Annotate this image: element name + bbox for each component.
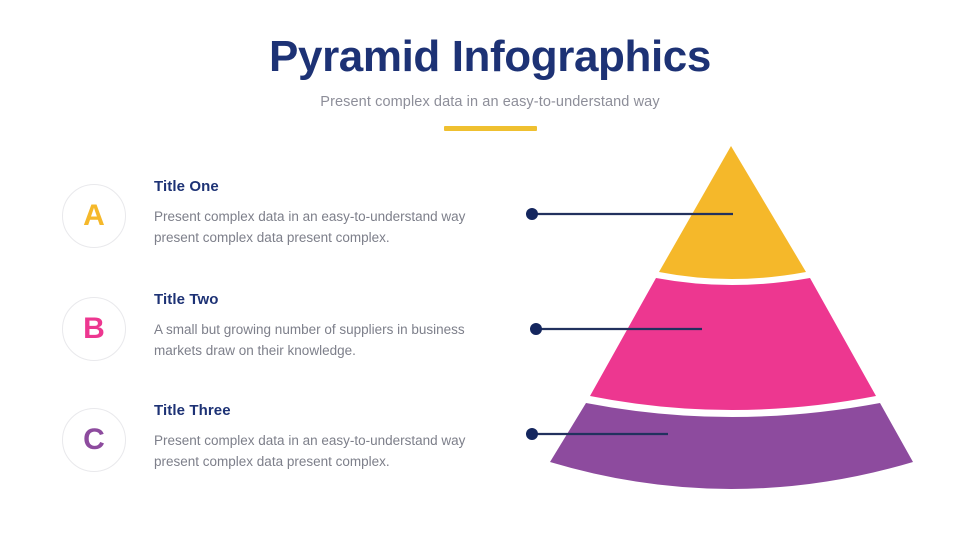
connector-line-two: [530, 323, 702, 335]
legend-title: Title Three: [154, 402, 514, 419]
avatar: A: [62, 184, 126, 248]
legend-body: Present complex data in an easy-to-under…: [154, 431, 494, 473]
badge-letter-b: B: [83, 314, 105, 344]
connector-line-one: [526, 208, 733, 220]
legend-body: A small but growing number of suppliers …: [154, 320, 494, 362]
avatar: C: [62, 408, 126, 472]
legend-title: Title One: [154, 178, 514, 195]
legend-text-block: Title Two A small but growing number of …: [154, 291, 514, 362]
pyramid-tier-middle[interactable]: [590, 278, 876, 410]
connector-dot[interactable]: [530, 323, 542, 335]
connector-line-three: [526, 428, 668, 440]
page-subtitle: Present complex data in an easy-to-under…: [0, 94, 980, 110]
connector-dot[interactable]: [526, 428, 538, 440]
list-item[interactable]: B Title Two A small but growing number o…: [57, 285, 512, 385]
badge-letter-c: C: [83, 425, 105, 455]
accent-divider: [444, 126, 537, 131]
avatar: B: [62, 297, 126, 361]
list-item[interactable]: A Title One Present complex data in an e…: [57, 172, 512, 272]
pyramid-tier-top[interactable]: [659, 146, 806, 279]
legend-body: Present complex data in an easy-to-under…: [154, 207, 494, 249]
badge-letter-a: A: [83, 201, 105, 231]
slide-canvas: Pyramid Infographics Present complex dat…: [0, 0, 980, 551]
header: Pyramid Infographics Present complex dat…: [0, 34, 980, 131]
legend-text-block: Title One Present complex data in an eas…: [154, 178, 514, 249]
list-item[interactable]: C Title Three Present complex data in an…: [57, 396, 512, 496]
legend-title: Title Two: [154, 291, 514, 308]
legend-text-block: Title Three Present complex data in an e…: [154, 402, 514, 473]
page-title: Pyramid Infographics: [0, 34, 980, 80]
connector-dot[interactable]: [526, 208, 538, 220]
pyramid-tier-bottom[interactable]: [550, 403, 913, 489]
